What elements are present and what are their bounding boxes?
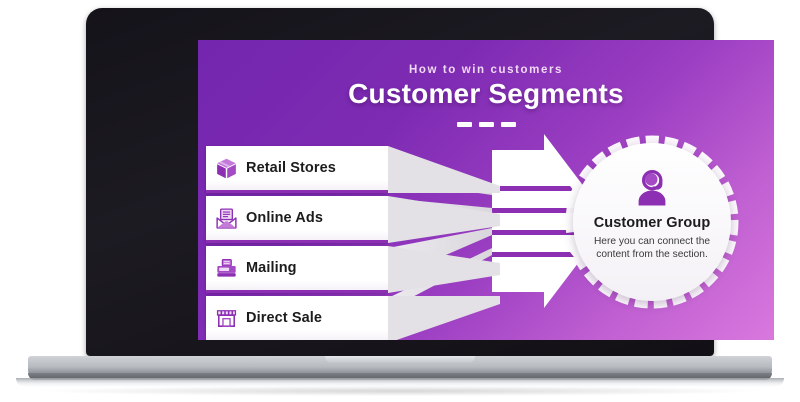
channel-panel[interactable]: Mailing xyxy=(206,246,388,293)
title-dash-divider xyxy=(198,122,774,127)
channel-panel[interactable]: Retail Stores xyxy=(206,146,388,193)
row-connector xyxy=(388,146,500,193)
base-notch xyxy=(325,356,475,363)
channel-list: Retail Stores xyxy=(198,146,498,340)
customer-group-circle[interactable]: Customer Group Here you can connect the … xyxy=(564,134,740,310)
open-envelope-icon xyxy=(206,206,246,231)
list-item[interactable]: Retail Stores xyxy=(198,146,498,194)
customer-group-card: Customer Group Here you can connect the … xyxy=(573,143,731,301)
list-item[interactable]: Online Ads xyxy=(198,196,498,244)
cash-register-icon xyxy=(206,256,246,281)
channel-label: Direct Sale xyxy=(246,310,322,326)
presentation-slide: How to win customers Customer Segments xyxy=(198,40,774,340)
laptop-screen: How to win customers Customer Segments xyxy=(198,40,774,340)
package-box-icon xyxy=(206,156,246,181)
slide-kicker: How to win customers xyxy=(198,64,774,76)
support-agent-headset-icon xyxy=(630,166,674,211)
laptop-lid: How to win customers Customer Segments xyxy=(86,8,714,356)
row-connector xyxy=(388,296,500,340)
row-connector xyxy=(388,246,500,293)
customer-group-title: Customer Group xyxy=(594,215,711,231)
slide-title: Customer Segments xyxy=(198,78,774,110)
channel-panel[interactable]: Online Ads xyxy=(206,196,388,243)
customer-group-description: Here you can connect the content from th… xyxy=(590,236,714,261)
list-item[interactable]: Mailing xyxy=(198,246,498,294)
channel-label: Online Ads xyxy=(246,210,323,226)
row-connector xyxy=(388,196,500,243)
laptop-base xyxy=(28,356,772,380)
list-item[interactable]: Direct Sale xyxy=(198,296,498,340)
channel-panel[interactable]: Direct Sale xyxy=(206,296,388,340)
laptop-shadow xyxy=(40,386,760,396)
screenshot-stage: How to win customers Customer Segments xyxy=(0,0,800,402)
channel-label: Retail Stores xyxy=(246,160,336,176)
storefront-icon xyxy=(206,306,246,331)
channel-label: Mailing xyxy=(246,260,297,276)
